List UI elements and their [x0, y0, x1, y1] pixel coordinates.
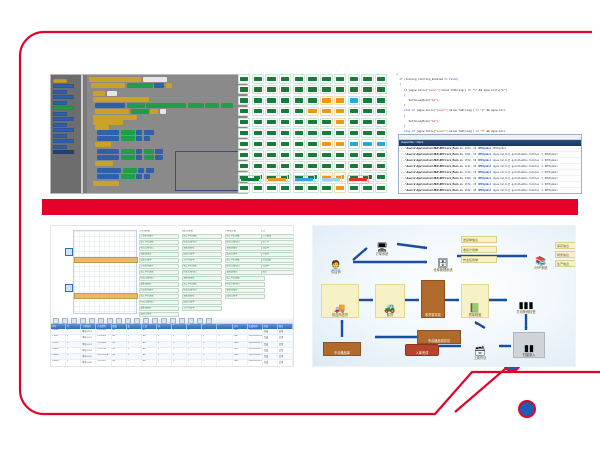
status-cell[interactable]: [334, 118, 346, 128]
status-cell-bar: [336, 131, 344, 135]
block-segment[interactable]: [95, 142, 111, 147]
table-cell: 1: [187, 342, 202, 347]
block-segment[interactable]: [95, 109, 129, 114]
status-cell[interactable]: [320, 139, 332, 149]
grid-toolbar-icon[interactable]: [53, 318, 59, 324]
status-cell-bar: [240, 98, 248, 102]
status-cell[interactable]: [265, 150, 277, 160]
status-cell[interactable]: [265, 118, 277, 128]
grid-toolbar-icon[interactable]: [71, 318, 77, 324]
grid-toolbar-icon[interactable]: [116, 318, 122, 324]
status-cell[interactable]: [320, 128, 332, 138]
status-cell[interactable]: [238, 161, 250, 171]
status-cell[interactable]: [361, 118, 373, 128]
sheet-text-cell: 加工中心装配: [139, 294, 179, 299]
status-cell[interactable]: [375, 161, 387, 171]
table-cell: 单号-01-6: [81, 360, 96, 365]
status-cell[interactable]: [279, 150, 291, 160]
code-text-area[interactable]: { if (testing_starting_Enabled == false)…: [390, 72, 580, 134]
grid-toolbar-icon[interactable]: [188, 318, 194, 324]
status-cell[interactable]: [238, 118, 250, 128]
flow-arrow-7: [489, 298, 507, 301]
status-cell[interactable]: [293, 74, 305, 84]
status-cell[interactable]: [306, 85, 318, 95]
status-cell[interactable]: [252, 139, 264, 149]
block-segment[interactable]: [160, 109, 166, 114]
grid-toolbar-icon[interactable]: [89, 318, 95, 324]
status-cell[interactable]: [320, 161, 332, 171]
block-segment[interactable]: [121, 174, 135, 179]
blockly-canvas[interactable]: [87, 75, 247, 193]
status-cell[interactable]: [252, 183, 264, 193]
flow-erp-icon: 📚: [535, 256, 546, 266]
block-segment[interactable]: [146, 168, 154, 173]
status-cell[interactable]: [238, 139, 250, 149]
table-cell: 单号-01-2: [81, 335, 96, 340]
table-cell: PD-1021-A: [96, 354, 111, 359]
status-cell[interactable]: [348, 128, 360, 138]
block-segment[interactable]: [121, 136, 135, 141]
status-cell-bar: [240, 77, 248, 81]
gantt-grid[interactable]: [73, 230, 137, 314]
block-segment[interactable]: [107, 91, 117, 96]
block-segment[interactable]: [136, 155, 142, 160]
flow-arrow-1: [353, 260, 427, 263]
workflow-diagram-panel[interactable]: 🧑‍💼供应商🖥订单系统🗄仓库管理系统送货单信息收货计划单作业任务单📚ERP系统库…: [312, 225, 576, 367]
table-cell: B8: [142, 348, 157, 353]
gantt-bar[interactable]: [74, 257, 138, 263]
toolbox-block[interactable]: [53, 95, 74, 99]
status-cell[interactable]: [293, 183, 305, 193]
code-block[interactable]: [95, 103, 233, 108]
status-cell[interactable]: [265, 139, 277, 149]
status-cell[interactable]: [375, 172, 387, 182]
code-block[interactable]: [89, 77, 167, 82]
code-block[interactable]: [93, 115, 137, 120]
flow-erp-label: ERP系统: [535, 266, 548, 270]
block-segment[interactable]: [144, 130, 154, 135]
status-cell[interactable]: [375, 107, 387, 117]
sheet-text-cell: 加工中心装配: [139, 270, 179, 275]
flow-reject-area[interactable]: 不合格品暂存区: [417, 330, 461, 344]
status-cell[interactable]: [252, 96, 264, 106]
block-segment[interactable]: [144, 174, 150, 179]
block-segment[interactable]: [121, 130, 135, 135]
toolbox-block[interactable]: [53, 145, 67, 149]
status-cell[interactable]: [279, 161, 291, 171]
status-cell[interactable]: [279, 107, 291, 117]
status-cell[interactable]: [238, 74, 250, 84]
status-cell[interactable]: [334, 96, 346, 106]
status-cell[interactable]: [361, 74, 373, 84]
status-cell[interactable]: [252, 128, 264, 138]
status-cell[interactable]: [334, 150, 346, 160]
status-cell[interactable]: [252, 118, 264, 128]
grid-toolbar-icon[interactable]: [125, 318, 131, 324]
status-cell[interactable]: [375, 74, 387, 84]
status-cell[interactable]: [348, 161, 360, 171]
toolbox-block[interactable]: [53, 123, 67, 127]
status-cell[interactable]: [265, 107, 277, 117]
flow-plan[interactable]: 收货计划单: [461, 246, 497, 253]
status-cell[interactable]: [238, 150, 250, 160]
code-block[interactable]: [97, 155, 163, 160]
status-cell[interactable]: [334, 74, 346, 84]
flow-supplier[interactable]: 🧑‍💼供应商: [321, 248, 351, 274]
gantt-node[interactable]: [65, 248, 73, 256]
status-cell[interactable]: [375, 139, 387, 149]
status-cell[interactable]: [265, 96, 277, 106]
block-segment[interactable]: [93, 91, 105, 96]
status-cell[interactable]: [279, 85, 291, 95]
status-cell[interactable]: [306, 96, 318, 106]
block-segment[interactable]: [131, 109, 149, 114]
status-cell[interactable]: [265, 85, 277, 95]
status-cell[interactable]: [265, 183, 277, 193]
gantt-node[interactable]: [65, 284, 73, 292]
status-cell[interactable]: [375, 150, 387, 160]
block-segment[interactable]: [121, 155, 135, 160]
gantt-bar[interactable]: [74, 293, 138, 299]
block-segment[interactable]: [127, 83, 153, 88]
code-block[interactable]: [95, 125, 109, 130]
code-block[interactable]: [91, 83, 172, 88]
status-cell[interactable]: [306, 118, 318, 128]
grid-toolbar-icon[interactable]: [170, 318, 176, 324]
flow-unload-label: 卸货: [387, 313, 393, 317]
status-cell[interactable]: [306, 150, 318, 160]
grid-toolbar-icon[interactable]: [197, 318, 203, 324]
table-cell: 1: [202, 335, 217, 340]
status-cell-bar: [336, 87, 344, 91]
block-segment[interactable]: [136, 136, 142, 141]
status-cell[interactable]: [348, 96, 360, 106]
code-block[interactable]: [97, 130, 154, 135]
grid-toolbar-icon[interactable]: [143, 318, 149, 324]
block-segment[interactable]: [221, 103, 233, 108]
toolbox-block[interactable]: [53, 134, 67, 138]
toolbox-block[interactable]: [53, 101, 67, 105]
status-cell[interactable]: [265, 128, 277, 138]
code-block[interactable]: [97, 174, 150, 179]
status-cell[interactable]: [375, 118, 387, 128]
block-segment[interactable]: [143, 77, 167, 82]
status-cell[interactable]: [293, 107, 305, 117]
status-cell-bar: [350, 109, 358, 113]
status-cell[interactable]: [320, 107, 332, 117]
status-cell[interactable]: [348, 118, 360, 128]
status-cell-bar: [295, 164, 303, 168]
status-cell[interactable]: [279, 139, 291, 149]
status-cell[interactable]: [320, 85, 332, 95]
status-cell[interactable]: [320, 74, 332, 84]
console-log-row[interactable]: ...\Source\Application\MES\OPC\Form_Main…: [399, 194, 581, 195]
status-cell[interactable]: [293, 96, 305, 106]
flow-reject-store[interactable]: 不合格品库: [323, 342, 361, 356]
grid-toolbar-icon[interactable]: [62, 318, 68, 324]
status-cell[interactable]: [361, 128, 373, 138]
status-cell[interactable]: [361, 150, 373, 160]
status-cell[interactable]: [265, 161, 277, 171]
flow-supplier-label: 供应商: [331, 270, 341, 274]
status-cell[interactable]: [375, 128, 387, 138]
sheet-text-cell: 检验合格项目: [182, 240, 222, 245]
flow-quality[interactable]: 📗质量检验: [461, 284, 489, 318]
status-cell[interactable]: [252, 161, 264, 171]
code-block[interactable]: [93, 97, 149, 102]
flow-warehouse-mgr-label: 仓库管理系统: [433, 268, 452, 272]
table-cell: 1: [187, 335, 202, 340]
block-segment[interactable]: [150, 109, 158, 114]
status-cell[interactable]: [252, 107, 264, 117]
status-cell[interactable]: [238, 183, 250, 193]
sheet-text-cell: 加工中心装配: [225, 258, 265, 263]
output-console-panel[interactable]: Output File :: Client ...\Source\Applica…: [398, 134, 582, 194]
status-cell-bar: [295, 142, 303, 146]
status-cell[interactable]: [306, 161, 318, 171]
toolbox-block[interactable]: [53, 112, 67, 116]
flow-erp-tag3[interactable]: 生产信息: [555, 260, 576, 267]
sheet-text-cell: 检验合格项目: [139, 300, 179, 305]
code-block[interactable]: [93, 120, 123, 125]
code-block[interactable]: [97, 136, 150, 141]
table-cell: 1: [217, 360, 232, 365]
toolbox-block[interactable]: [53, 150, 74, 154]
toolbox-block[interactable]: [53, 117, 74, 121]
status-cell[interactable]: [348, 139, 360, 149]
block-segment[interactable]: [93, 181, 119, 186]
grid-toolbar-icon[interactable]: [98, 318, 104, 324]
block-segment[interactable]: [205, 103, 219, 108]
status-cell[interactable]: [252, 150, 264, 160]
status-cell[interactable]: [306, 128, 318, 138]
flow-task[interactable]: 作业任务单: [461, 256, 497, 263]
flow-ng-mark[interactable]: NG: [475, 322, 480, 326]
status-cell-bar: [295, 120, 303, 124]
status-cell[interactable]: [334, 107, 346, 117]
toolbox-block[interactable]: [53, 139, 74, 143]
code-block[interactable]: [95, 142, 111, 147]
flow-transport[interactable]: 🚚供应商送货: [321, 284, 359, 318]
status-cell[interactable]: [306, 183, 318, 193]
block-segment[interactable]: [97, 130, 119, 135]
block-segment[interactable]: [144, 136, 150, 141]
block-segment[interactable]: [144, 149, 154, 154]
table-cell: 完成: [263, 348, 278, 353]
grid-toolbar-icon[interactable]: [80, 318, 86, 324]
legend-swatch: [349, 178, 367, 182]
flow-arrow-5: [405, 298, 419, 301]
status-cell[interactable]: [293, 150, 305, 160]
status-cell[interactable]: [306, 74, 318, 84]
spreadsheet-panel[interactable]: 工序流程表工程名称编号加工中心装配检验合格项目装配线路程品质合格率工程名称编号加…: [50, 225, 294, 367]
status-cell[interactable]: [293, 85, 305, 95]
code-block[interactable]: [95, 109, 166, 114]
status-grid-panel[interactable]: [236, 70, 388, 192]
block-segment[interactable]: [123, 168, 137, 173]
code-block[interactable]: [97, 168, 154, 173]
block-segment[interactable]: [188, 103, 204, 108]
flow-arrow-12: [340, 320, 343, 337]
status-cell[interactable]: [334, 161, 346, 171]
block-segment[interactable]: [91, 83, 125, 88]
flow-warehouse-mgr[interactable]: 🗄仓库管理系统: [429, 240, 457, 272]
status-cell-bar: [336, 142, 344, 146]
status-cell[interactable]: [265, 74, 277, 84]
status-cell[interactable]: [334, 128, 346, 138]
status-cell[interactable]: [334, 139, 346, 149]
grid-toolbar-icon[interactable]: [161, 318, 167, 324]
status-cell[interactable]: [361, 85, 373, 95]
sheet-text-column: 汇总合计数量总工时良品率不良率在制品数完成率备注: [261, 230, 294, 276]
toolbox-block[interactable]: [53, 106, 74, 110]
status-cell[interactable]: [375, 85, 387, 95]
block-segment[interactable]: [93, 120, 123, 125]
table-cell: 1: [202, 342, 217, 347]
status-cell[interactable]: [348, 107, 360, 117]
block-segment[interactable]: [97, 155, 119, 160]
status-cell[interactable]: [293, 161, 305, 171]
status-cell[interactable]: [306, 107, 318, 117]
sheet-text-cell: 完成率: [261, 264, 294, 269]
toolbox-block[interactable]: [53, 90, 67, 94]
grid-toolbar-icon[interactable]: [134, 318, 140, 324]
table-cell: 1: [172, 348, 187, 353]
block-segment[interactable]: [95, 161, 113, 166]
status-cell[interactable]: [348, 85, 360, 95]
block-segment[interactable]: [93, 115, 137, 120]
block-segment[interactable]: [155, 149, 163, 154]
block-segment[interactable]: [136, 130, 142, 135]
status-cell[interactable]: [279, 96, 291, 106]
block-segment[interactable]: [136, 174, 142, 179]
status-cell[interactable]: [252, 74, 264, 84]
status-cell-bar: [267, 186, 275, 190]
sheet-column-title: 检验记录表: [182, 230, 222, 233]
status-cell[interactable]: [375, 183, 387, 193]
status-cell[interactable]: [320, 183, 332, 193]
flow-unload[interactable]: 🚜卸货: [375, 284, 405, 318]
status-cell[interactable]: [279, 118, 291, 128]
status-cell[interactable]: [361, 107, 373, 117]
status-cell[interactable]: [334, 85, 346, 95]
sheet-text-cell: 加工中心装配: [182, 234, 222, 239]
flow-erp[interactable]: 📚ERP系统: [529, 244, 553, 270]
status-cell[interactable]: [279, 74, 291, 84]
flow-barcode[interactable]: ▮▮▮打印条码标签: [509, 284, 543, 314]
status-cell[interactable]: [348, 183, 360, 193]
flow-asn[interactable]: 送货单信息: [461, 236, 497, 243]
block-segment[interactable]: [155, 155, 163, 160]
grid-body[interactable]: C10011单号-01-1PD-1001801B81111174972024-0…: [51, 329, 293, 367]
toolbox-block[interactable]: [53, 84, 74, 88]
status-cell[interactable]: [238, 85, 250, 95]
status-cell[interactable]: [252, 85, 264, 95]
sheet-text-cell: 良品率: [261, 246, 294, 251]
toolbox-block[interactable]: [53, 79, 67, 83]
log-line: 1253, 15: [465, 147, 476, 150]
status-cell-bar: [322, 142, 330, 146]
console-log-list[interactable]: ...\Source\Application\MES\OPC\Form_Main…: [399, 146, 581, 195]
grid-toolbar-icon[interactable]: [107, 318, 113, 324]
block-segment[interactable]: [146, 103, 186, 108]
block-segment[interactable]: [166, 83, 172, 88]
block-segment[interactable]: [138, 168, 144, 173]
flow-erp-tag1[interactable]: 库存信息: [555, 242, 576, 249]
status-cell[interactable]: [306, 139, 318, 149]
log-path: ...\Source\Application\MES\OPC\Form_Main…: [401, 165, 463, 168]
code-block[interactable]: [95, 161, 113, 166]
flow-inspect-area[interactable]: 收货暂存区: [421, 280, 445, 318]
block-segment[interactable]: [93, 97, 149, 102]
code-editor-panel[interactable]: { if (testing_starting_Enabled == false)…: [390, 70, 580, 192]
flow-scan[interactable]: ▮▮扫描录入: [513, 332, 545, 358]
status-cell[interactable]: [320, 118, 332, 128]
status-cell[interactable]: [334, 183, 346, 193]
block-segment[interactable]: [89, 77, 141, 82]
block-segment[interactable]: [121, 149, 135, 154]
status-cell[interactable]: [238, 128, 250, 138]
toolbox-block[interactable]: [53, 128, 74, 132]
grid-toolbar-icon[interactable]: [152, 318, 158, 324]
status-cell[interactable]: [320, 150, 332, 160]
status-cell[interactable]: [375, 96, 387, 106]
code-block[interactable]: [97, 149, 163, 154]
block-segment[interactable]: [97, 136, 119, 141]
flow-complete[interactable]: 入库完成: [405, 344, 439, 356]
status-cell-bar: [240, 153, 248, 157]
table-cell: 完成: [263, 342, 278, 347]
flow-order-system[interactable]: 🖥订单系统: [369, 234, 395, 256]
status-cell[interactable]: [293, 118, 305, 128]
block-segment[interactable]: [154, 83, 164, 88]
status-cell[interactable]: [361, 161, 373, 171]
code-block[interactable]: [93, 181, 119, 186]
grid-toolbar-icon[interactable]: [206, 318, 212, 324]
block-segment[interactable]: [95, 103, 125, 108]
block-segment[interactable]: [97, 174, 119, 179]
status-cell[interactable]: [361, 96, 373, 106]
block-segment[interactable]: [97, 149, 119, 154]
status-cell[interactable]: [361, 183, 373, 193]
status-cell[interactable]: [279, 183, 291, 193]
status-cell[interactable]: [238, 96, 250, 106]
block-segment[interactable]: [127, 103, 145, 108]
status-cell[interactable]: [348, 150, 360, 160]
block-segment[interactable]: [136, 149, 142, 154]
status-cell[interactable]: [293, 139, 305, 149]
code-block[interactable]: [93, 91, 117, 96]
grid-toolbar-icon[interactable]: [179, 318, 185, 324]
block-segment[interactable]: [97, 168, 121, 173]
data-grid[interactable]: 序号行工单编号产品型号数量批工位序ABCD工时完成时间状态备注 C10011单号…: [51, 318, 293, 366]
spreadsheet-upper[interactable]: 工序流程表工程名称编号加工中心装配检验合格项目装配线路程品质合格率工程名称编号加…: [51, 226, 293, 316]
flow-shelving[interactable]: 🗃上架作业: [463, 336, 497, 360]
status-cell[interactable]: [279, 128, 291, 138]
blockly-editor-panel[interactable]: [50, 74, 248, 194]
status-cell[interactable]: [361, 139, 373, 149]
blockly-toolbox[interactable]: [51, 75, 83, 193]
status-cell[interactable]: [348, 74, 360, 84]
status-cell-bar: [377, 175, 385, 179]
block-segment[interactable]: [144, 155, 154, 160]
status-cell[interactable]: [293, 128, 305, 138]
status-cell[interactable]: [238, 107, 250, 117]
block-segment[interactable]: [95, 125, 109, 130]
status-cell[interactable]: [320, 96, 332, 106]
sheet-text-cell: 检验合格项目: [139, 246, 179, 251]
flow-erp-tag2[interactable]: 财务信息: [555, 251, 576, 258]
